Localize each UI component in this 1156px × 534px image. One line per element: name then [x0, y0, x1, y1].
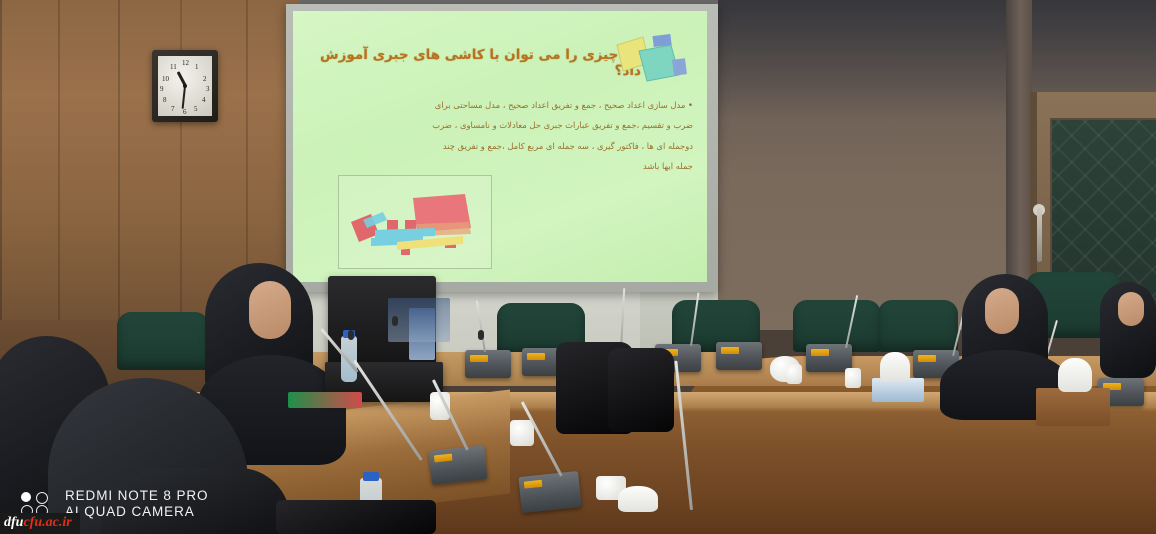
glass — [845, 368, 861, 388]
slide-line-2: ضرب و تقسیم ،جمع و تفریق عبارات جبری حل … — [432, 120, 693, 130]
clock-numeral: 10 — [162, 75, 169, 83]
algebra-tiles-logo-icon — [613, 29, 693, 91]
url-prefix: dfu — [4, 515, 23, 530]
clock-numeral: 2 — [203, 75, 207, 83]
slide-line-4: جمله ایها باشد — [643, 161, 693, 171]
clock-numeral: 8 — [163, 96, 167, 104]
mic-label — [721, 347, 739, 354]
bottle-cap — [363, 472, 379, 481]
slide-bullet-line-1: • مدل سازی اعداد صحیح ، جمع و تفریق اعدا… — [307, 95, 693, 115]
clock-numeral: 1 — [195, 63, 199, 71]
slide-line-3-wrap: دوجمله ای ها ، فاکتور گیری ، سه جمله ای … — [307, 136, 693, 156]
slide-line-2-wrap: ضرب و تقسیم ،جمع و تفریق عبارات جبری حل … — [307, 115, 693, 135]
slide-body-text: • مدل سازی اعداد صحیح ، جمع و تفریق اعدا… — [307, 95, 693, 176]
clock-numeral: 12 — [182, 59, 189, 67]
slide-line-1: مدل سازی اعداد صحیح ، جمع و تفریق اعداد … — [435, 100, 686, 110]
mic-label — [811, 349, 829, 356]
microphone-head — [348, 330, 354, 340]
clock-numeral: 7 — [171, 105, 175, 113]
cup — [510, 420, 534, 446]
tissue — [1058, 358, 1092, 392]
green-red-folder — [288, 392, 362, 408]
door-handle — [1037, 208, 1042, 262]
photograph-conference-room: 12 1 2 3 4 5 6 7 8 9 10 11 چه چیزی را می… — [0, 0, 1156, 534]
tissue — [880, 352, 910, 382]
wall-clock: 12 1 2 3 4 5 6 7 8 9 10 11 — [152, 50, 218, 122]
wall-pillar — [1006, 0, 1032, 300]
microphone-unit — [465, 350, 511, 378]
site-url-badge: dfucfu.ac.ir — [0, 513, 80, 534]
black-backpack — [608, 348, 674, 432]
clock-numeral: 3 — [206, 85, 210, 93]
url-text: cfu.ac.ir — [23, 515, 71, 530]
mic-label — [470, 355, 488, 362]
cup — [786, 364, 802, 384]
mic-label — [434, 454, 453, 463]
clock-numeral: 11 — [170, 63, 177, 71]
chair — [117, 312, 209, 370]
microphone-unit — [518, 471, 581, 513]
mic-label — [918, 355, 936, 362]
clock-numeral: 5 — [194, 105, 198, 113]
laptop-foreground — [276, 500, 436, 534]
clock-numeral: 4 — [202, 96, 206, 104]
clock-numeral: 6 — [183, 108, 187, 116]
algebra-tiles-figure — [339, 176, 491, 268]
clock-numeral: 9 — [160, 85, 164, 93]
microphone-head — [478, 330, 484, 340]
mic-label — [524, 480, 543, 489]
microphone-head — [392, 316, 398, 326]
slide-line-4-wrap: جمله ایها باشد — [307, 156, 693, 176]
chair — [878, 300, 958, 352]
slide-line-3: دوجمله ای ها ، فاکتور گیری ، سه جمله ای … — [443, 141, 693, 151]
attendee-far-right-face — [1118, 292, 1144, 326]
microphone-unit — [428, 445, 487, 485]
napkin — [618, 486, 658, 512]
slide-title: چه چیزی را می توان با کاشی های جبری آموز… — [311, 47, 641, 79]
attendee-right-face — [985, 288, 1019, 334]
bullet-glyph: • — [688, 100, 693, 110]
clock-center-pin — [183, 84, 187, 88]
presenter-face — [249, 281, 291, 339]
tissue-box — [1036, 388, 1110, 426]
clock-face: 12 1 2 3 4 5 6 7 8 9 10 11 — [158, 56, 212, 116]
slide-figure-frame — [338, 175, 492, 269]
projection-screen: چه چیزی را می توان با کاشی های جبری آموز… — [293, 11, 707, 282]
clock-minute-hand — [182, 86, 186, 109]
microphone-unit — [716, 342, 762, 370]
mic-label — [527, 353, 545, 360]
